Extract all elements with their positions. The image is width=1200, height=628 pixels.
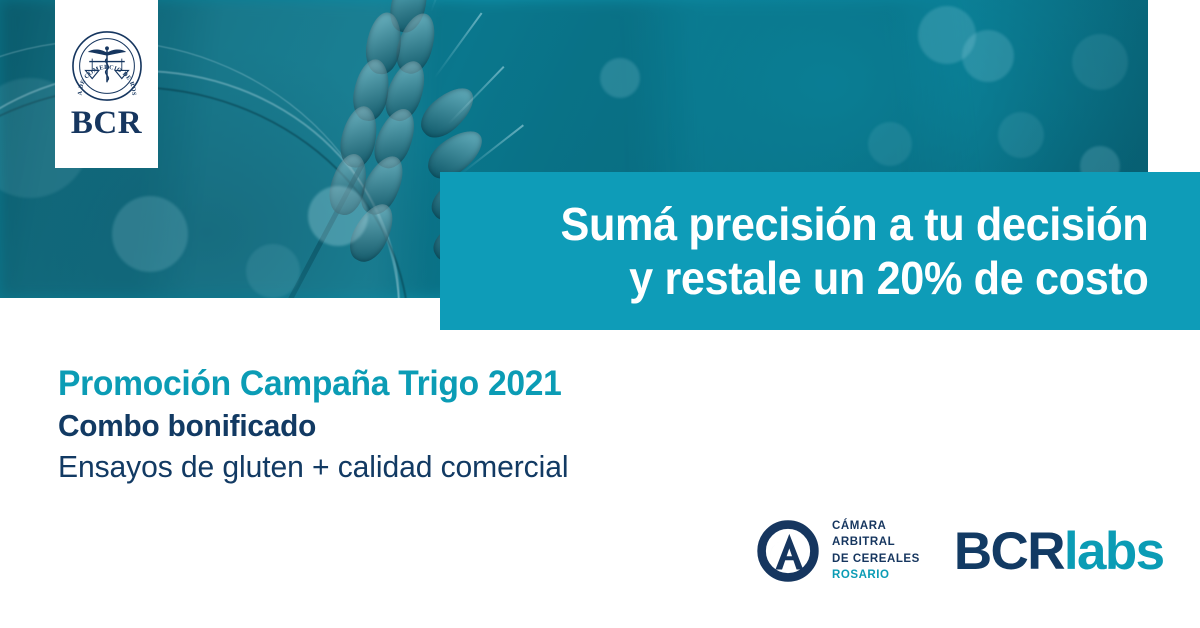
camara-line-3: DE CEREALES (832, 552, 920, 567)
copy-block: Promoción Campaña Trigo 2021 Combo bonif… (58, 362, 818, 488)
bokeh-circle (600, 58, 640, 98)
headline-line-2: y restale un 20% de costo (629, 251, 1148, 305)
camara-line-2: ARBITRAL (832, 535, 920, 550)
bolsa-de-comercio-seal-icon: BOLSA DE COMERCIO DE ROSARIO (70, 29, 144, 103)
camara-line-4: ROSARIO (832, 568, 920, 583)
promo-banner: BOLSA DE COMERCIO DE ROSARIO BCR Sumá pr… (0, 0, 1200, 628)
camara-arbitral-monogram-icon (755, 518, 821, 584)
bcrlabs-bcr: BCR (954, 522, 1064, 581)
bokeh-circle (112, 196, 188, 272)
promo-subtitle: Combo bonificado (58, 406, 788, 446)
bcrlabs-logo: BCRlabs (954, 525, 1164, 578)
bcr-wordmark: BCR (71, 107, 142, 140)
bokeh-circle (998, 112, 1044, 158)
bcrlabs-labs: labs (1064, 522, 1164, 581)
bcr-logo-box: BOLSA DE COMERCIO DE ROSARIO BCR (55, 0, 158, 168)
promo-description: Ensayos de gluten + calidad comercial (58, 446, 795, 488)
headline-line-1: Sumá precisión a tu decisión (560, 197, 1148, 251)
bokeh-circle (962, 30, 1014, 82)
camara-line-1: CÁMARA (832, 519, 920, 534)
bokeh-circle (1072, 34, 1128, 90)
footer-logos: CÁMARA ARBITRAL DE CEREALES ROSARIO BCRl… (755, 518, 1164, 584)
camara-arbitral-text: CÁMARA ARBITRAL DE CEREALES ROSARIO (832, 519, 920, 583)
bokeh-circle (246, 244, 300, 298)
camara-arbitral-logo: CÁMARA ARBITRAL DE CEREALES ROSARIO (755, 518, 920, 584)
bokeh-circle (868, 122, 912, 166)
bokeh-circle (308, 186, 368, 246)
promo-title: Promoción Campaña Trigo 2021 (58, 362, 788, 406)
headline-band: Sumá precisión a tu decisión y restale u… (440, 172, 1200, 330)
